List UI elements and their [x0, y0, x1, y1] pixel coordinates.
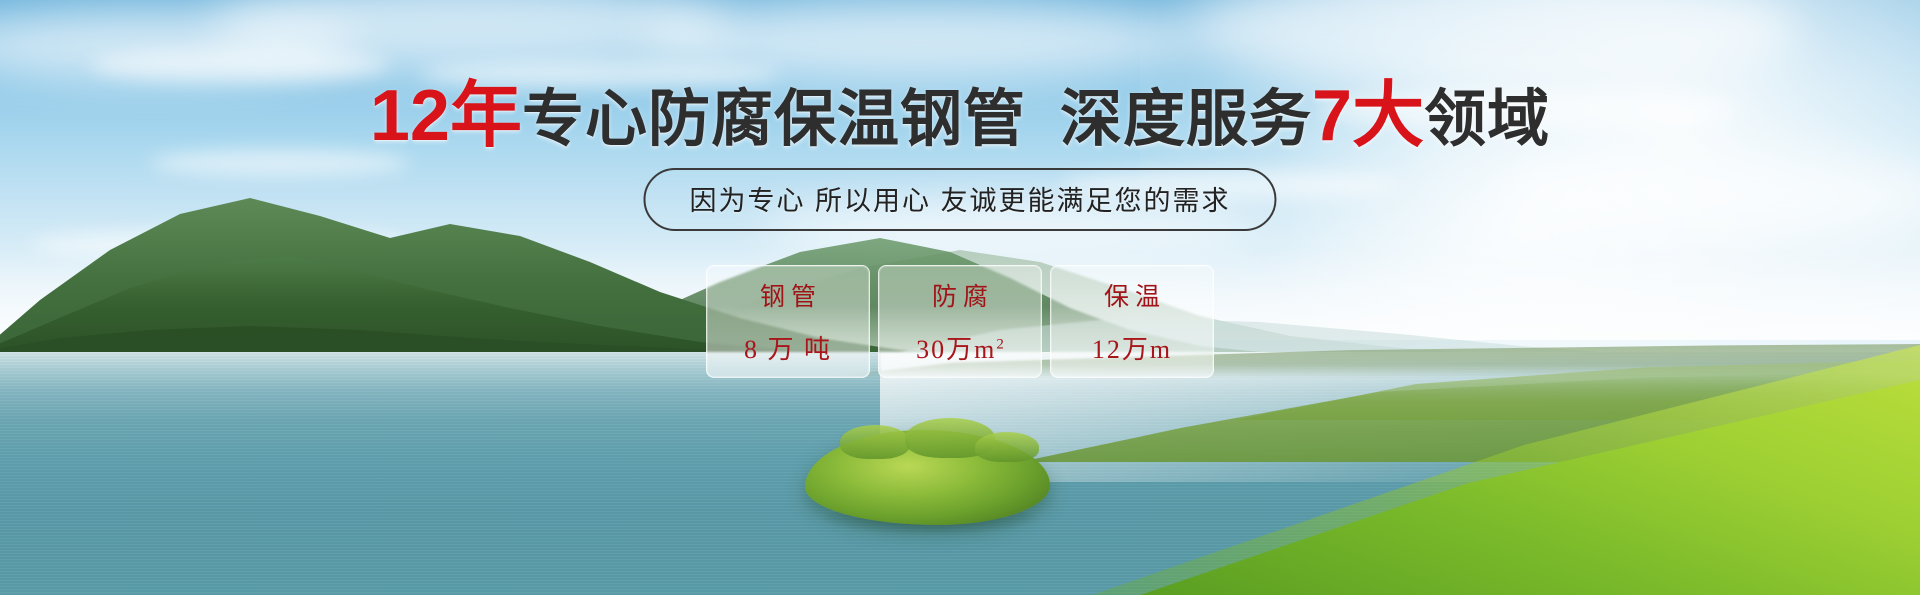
banner-subtitle: 因为专心 所以用心 友诚更能满足您的需求	[643, 168, 1276, 231]
headline-phrase-2: 深度服务	[1060, 85, 1312, 154]
stat-card-value: 8 万 吨	[744, 329, 832, 366]
banner-headline: 12年专心防腐保温钢管深度服务7大领域	[0, 80, 1920, 156]
stat-card-value-superscript: 2	[996, 336, 1004, 352]
stat-card-label: 防腐	[926, 277, 994, 313]
headline-phrase-1: 专心防腐保温钢管	[522, 85, 1026, 154]
headline-years-number: 12	[370, 76, 450, 156]
stat-cards: 钢管 8 万 吨 防腐 30万m2 保温 12万m	[706, 265, 1214, 378]
headline-years-unit: 年	[450, 76, 522, 156]
headline-fields-unit: 大	[1352, 76, 1424, 156]
headline-phrase-3: 领域	[1424, 85, 1550, 154]
stat-card-insulation[interactable]: 保温 12万m	[1050, 265, 1214, 378]
stat-card-value-text: 30万m	[916, 335, 996, 364]
hero-banner: 12年专心防腐保温钢管深度服务7大领域 因为专心 所以用心 友诚更能满足您的需求…	[0, 0, 1920, 595]
banner-content: 12年专心防腐保温钢管深度服务7大领域 因为专心 所以用心 友诚更能满足您的需求…	[0, 0, 1920, 595]
headline-fields-number: 7	[1312, 76, 1352, 156]
stat-card-steel-pipe[interactable]: 钢管 8 万 吨	[706, 265, 870, 378]
stat-card-label: 钢管	[754, 277, 822, 313]
stat-card-value-text: 8 万 吨	[744, 335, 832, 364]
stat-card-value: 12万m	[1092, 329, 1172, 366]
stat-card-value: 30万m2	[916, 329, 1004, 366]
stat-card-label: 保温	[1098, 277, 1166, 313]
stat-card-anticorrosion[interactable]: 防腐 30万m2	[878, 265, 1042, 378]
stat-card-value-text: 12万m	[1092, 335, 1172, 364]
